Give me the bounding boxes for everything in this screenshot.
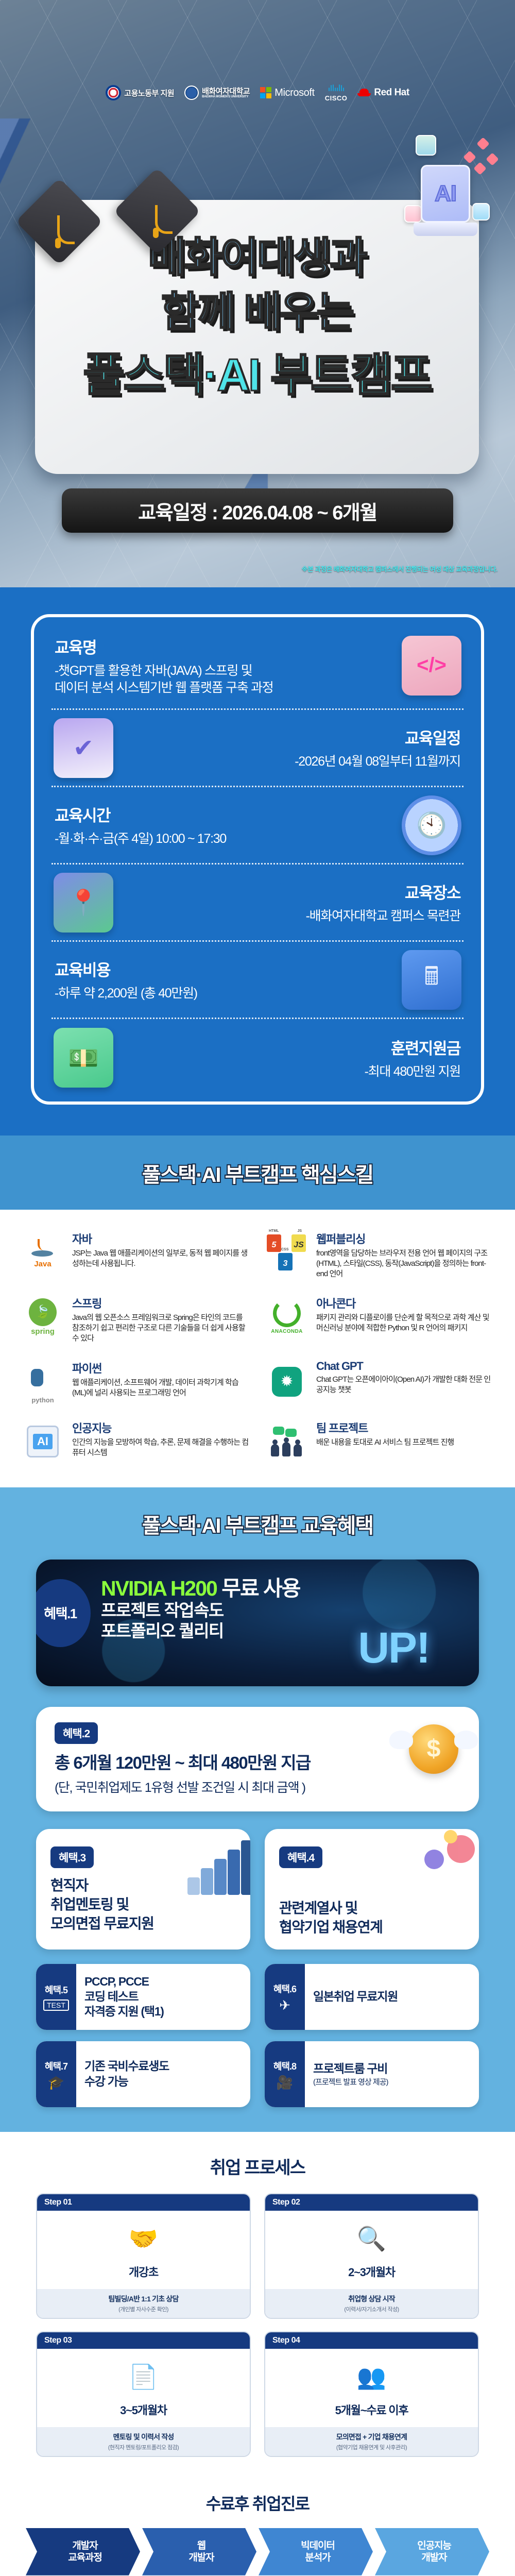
skill-card-ai: AI 인공지능 인간의 지능을 모방하여 학습, 추론, 문제 해결을 수행하는… bbox=[21, 1419, 250, 1464]
team-icon bbox=[265, 1419, 309, 1464]
benefit-badge: 혜택.5 bbox=[45, 1983, 67, 1996]
career-heading: 수료후 취업진로 bbox=[0, 2491, 515, 2515]
process-detail: 멘토링 및 이력서 작성 bbox=[42, 2432, 245, 2442]
process-subdetail: (현직자 멘토링/포트폴리오 점검) bbox=[42, 2443, 245, 2451]
process-step-label: Step 01 bbox=[37, 2194, 250, 2211]
graduation-cap-icon bbox=[28, 191, 90, 252]
calendar-check-icon: ✔ bbox=[54, 718, 113, 778]
graduation-cap-icon bbox=[126, 180, 188, 242]
benefit-card-3: 혜택.3 현직자 취업멘토링 및 모의면접 무료지원 bbox=[36, 1829, 250, 1950]
benefit-badge: 혜택.1 bbox=[36, 1579, 91, 1647]
ai-chip-icon: AI bbox=[21, 1419, 65, 1464]
ai-screen-icon: AI bbox=[421, 165, 470, 223]
partner-logo-bar: 고용노동부 지원 배화여자대학교 BAEWHA WOMEN'S UNIVERSI… bbox=[0, 77, 515, 108]
benefits-section: 풀스택·AI 부트캠프 교육혜택 혜택.1 NVIDIA H200 무료 사용 … bbox=[0, 1487, 515, 2132]
career-path-item: 빅데이터 분석가 bbox=[259, 2528, 373, 2575]
clock-icon: 🕙 bbox=[402, 795, 461, 855]
skill-desc: 인간의 지능을 모방하여 학습, 추론, 문제 해결을 수행하는 컴퓨터 시스템 bbox=[72, 1437, 250, 1458]
hero-disclaimer: ※본 과정은 배화여자대학교 캠퍼스에서 진행되는 여성 대상 교육과정입니다. bbox=[302, 564, 497, 573]
chatgpt-logo-icon: ✹ bbox=[265, 1360, 309, 1404]
hero-title-line3: 풀스택·AI 부트캠프 bbox=[35, 352, 479, 398]
benefit-badge: 혜택.7 bbox=[45, 2059, 67, 2073]
benefit-card-4: 혜택.4 관련계열사 및 협약기업 채용연계 bbox=[265, 1829, 479, 1950]
skill-card-webpublishing: HTMLJSCSS 5JS3 웹퍼블리싱 front영역을 담당하는 브라우저 … bbox=[265, 1230, 494, 1279]
microsoft-logo-icon bbox=[260, 87, 271, 98]
benefit-card-2: 혜택.2 총 6개월 120만원 ~ 최대 480만원 지급 (단, 국민취업제… bbox=[36, 1707, 479, 1811]
skill-title: 아나콘다 bbox=[316, 1295, 494, 1311]
benefit-card-1: 혜택.1 NVIDIA H200 무료 사용 프로젝트 작업속도 포트폴리오 퀄… bbox=[36, 1560, 479, 1686]
benefit-text: 프로젝트룸 구비 bbox=[313, 2061, 388, 2076]
skill-title: Chat GPT bbox=[316, 1360, 494, 1373]
skills-grid: Java 자바 JSP는 Java 웹 애플리케이션의 일부로, 동적 웹 페이… bbox=[21, 1230, 494, 1464]
info-label: 교육일정 bbox=[405, 725, 460, 749]
skill-desc: front영역을 담당하는 브라우저 전용 언어 웹 페이지의 구조(HTML)… bbox=[316, 1248, 494, 1279]
redhat-logo-icon bbox=[357, 89, 371, 97]
skills-heading-band: 풀스택·AI 부트캠프 핵심스킬 bbox=[0, 1136, 515, 1210]
hero-date-text: 교육일정 : 2026.04.08 ~ 6개월 bbox=[138, 497, 377, 525]
benefit-line2: 프로젝트 작업속도 bbox=[101, 1600, 463, 1621]
career-path-item: 개발자 교육과정 bbox=[26, 2528, 140, 2575]
benefit-badge: 혜택.8 bbox=[273, 2059, 296, 2073]
benefits-heading: 풀스택·AI 부트캠프 교육혜택 bbox=[0, 1509, 515, 1539]
info-row-course-name: 교육명 -챗GPT를 활용한 자바(JAVA) 스프링 및 데이터 분석 시스템… bbox=[51, 622, 463, 710]
partner-label-en: BAEWHA WOMEN'S UNIVERSITY bbox=[202, 95, 250, 98]
process-card-2: Step 02 🔍 2~3개월차 취업형 상담 시작 (이력서/자기소개서 작성… bbox=[264, 2193, 479, 2319]
benefit-highlight: NVIDIA H200 bbox=[101, 1577, 217, 1600]
partnership-icon bbox=[389, 1829, 479, 1904]
benefit-text: 관련계열사 및 협약기업 채용연계 bbox=[279, 1899, 467, 1937]
handshake-people-icon: 🤝 bbox=[120, 2219, 167, 2259]
process-subdetail: (개인별 자사수준 확인) bbox=[42, 2305, 245, 2313]
anaconda-logo-icon: ANACONDA bbox=[265, 1295, 309, 1339]
korea-government-icon bbox=[106, 85, 121, 100]
skill-card-chatgpt: ✹ Chat GPT Chat GPT는 오픈에이아이(Open AI)가 개발… bbox=[265, 1360, 494, 1404]
info-row-cost: 교육비용 -하루 약 2,200원 (총 40만원) 🖩 bbox=[51, 942, 463, 1019]
spring-logo-icon: 🍃spring bbox=[21, 1295, 65, 1339]
skill-card-anaconda: ANACONDA 아나콘다 패키지 관리와 디플로이를 단순케 할 목적으로 과… bbox=[265, 1295, 494, 1344]
career-section: 수료후 취업진로 개발자 교육과정 웹 개발자 빅데이터 분석가 인공지능 개발… bbox=[0, 2483, 515, 2576]
cisco-logo-icon bbox=[329, 84, 344, 91]
benefit-line1-rest: 무료 사용 bbox=[217, 1577, 300, 1600]
info-label: 교육비용 bbox=[55, 957, 110, 980]
hero-section: 고용노동부 지원 배화여자대학교 BAEWHA WOMEN'S UNIVERSI… bbox=[0, 0, 515, 587]
partner-label: 배화여자대학교 bbox=[202, 88, 250, 95]
network-nodes-icon bbox=[465, 139, 501, 175]
info-value: -챗GPT를 활용한 자바(JAVA) 스프링 및 데이터 분석 시스템기반 웹… bbox=[55, 663, 273, 696]
partner-logo-redhat: Red Hat bbox=[357, 87, 409, 98]
map-pin-icon: 📍 bbox=[54, 873, 113, 933]
calculator-icon: 🖩 bbox=[402, 950, 461, 1010]
process-detail: 취업형 상담 시작 bbox=[270, 2294, 473, 2304]
partner-label: Red Hat bbox=[374, 87, 409, 98]
benefit-text: PCCP, PCCE 코딩 테스트 자격증 지원 (택1) bbox=[84, 1974, 164, 2020]
test-clipboard-icon: TEST bbox=[43, 1999, 69, 2011]
benefit-badge: 혜택.3 bbox=[50, 1846, 94, 1868]
skill-card-team-project: 팀 프로젝트 배운 내용을 토대로 AI 서비스 팀 프로젝트 진행 bbox=[265, 1419, 494, 1464]
skill-title: 인공지능 bbox=[72, 1419, 250, 1436]
process-detail: 모의면접 + 기업 채용연계 bbox=[270, 2432, 473, 2442]
info-value: -최대 480만원 지원 bbox=[365, 1063, 460, 1080]
skill-desc: Java의 웹 오픈소스 프레임워크로 Spring은 타인의 코드를 참조하기… bbox=[72, 1313, 250, 1344]
process-title: 개강초 bbox=[42, 2263, 245, 2280]
skill-desc: 웹 애플리케이션, 소프트웨어 개발, 데이터 과학기계 학습(ML)에 널리 … bbox=[72, 1378, 250, 1398]
partner-logo-microsoft: Microsoft bbox=[260, 87, 315, 99]
info-row-subsidy: 💵 훈련지원금 -최대 480만원 지원 bbox=[51, 1019, 463, 1096]
info-row-location: 📍 교육장소 -배화여자대학교 캠퍼스 목련관 bbox=[51, 865, 463, 942]
video-camera-icon: 🎥 bbox=[277, 2076, 293, 2089]
skill-desc: 배운 내용을 토대로 AI 서비스 팀 프로젝트 진행 bbox=[316, 1437, 494, 1448]
process-heading: 취업 프로세스 bbox=[0, 2154, 515, 2179]
certificate-icon: 🎓 bbox=[48, 2076, 64, 2089]
process-card-1: Step 01 🤝 개강초 팀빌딩/A반 1:1 기초 상담 (개인별 자사수준… bbox=[36, 2193, 251, 2319]
info-label: 교육장소 bbox=[405, 880, 460, 903]
course-info-section: 교육명 -챗GPT를 활용한 자바(JAVA) 스프링 및 데이터 분석 시스템… bbox=[0, 587, 515, 1136]
python-logo-icon: python bbox=[21, 1360, 65, 1404]
skill-title: 파이썬 bbox=[72, 1360, 250, 1376]
info-value: -배화여자대학교 캠퍼스 목련관 bbox=[306, 908, 460, 925]
info-row-schedule: ✔ 교육일정 -2026년 04월 08일부터 11월까지 bbox=[51, 710, 463, 787]
process-title: 3~5개월차 bbox=[42, 2401, 245, 2418]
winged-coin-icon: $ bbox=[409, 1724, 458, 1774]
skill-desc: JSP는 Java 웹 애플리케이션의 일부로, 동적 웹 페이지를 생성하는데… bbox=[72, 1248, 250, 1269]
group-people-icon: 👥 bbox=[348, 2357, 396, 2397]
process-subdetail: (이력서/자기소개서 작성) bbox=[270, 2305, 473, 2313]
skills-section: Java 자바 JSP는 Java 웹 애플리케이션의 일부로, 동적 웹 페이… bbox=[0, 1210, 515, 1487]
baewha-seal-icon bbox=[184, 86, 199, 100]
money-icon: 💵 bbox=[54, 1028, 113, 1088]
benefit-card-8: 혜택.8 🎥 프로젝트룸 구비 (프로젝트 발표 영상 제공) bbox=[265, 2041, 479, 2107]
java-logo-icon: Java bbox=[21, 1230, 65, 1275]
benefit-tab: 혜택.7 🎓 bbox=[36, 2041, 76, 2107]
benefit-text: 일본취업 무료지원 bbox=[313, 1989, 398, 2004]
skill-title: 웹퍼블리싱 bbox=[316, 1230, 494, 1247]
process-card-3: Step 03 📄 3~5개월차 멘토링 및 이력서 작성 (현직자 멘토링/포… bbox=[36, 2331, 251, 2457]
process-subdetail: (협약기업 채용연계 및 사후관리) bbox=[270, 2443, 473, 2451]
skill-card-python: python 파이썬 웹 애플리케이션, 소프트웨어 개발, 데이터 과학기계 … bbox=[21, 1360, 250, 1404]
skills-heading: 풀스택·AI 부트캠프 핵심스킬 bbox=[142, 1164, 373, 1187]
process-title: 2~3개월차 bbox=[270, 2263, 473, 2280]
career-path-item: 인공지능 개발자 bbox=[375, 2528, 489, 2575]
profile-card-icon bbox=[416, 135, 436, 156]
video-card-icon bbox=[472, 203, 490, 221]
laptop-base-icon bbox=[414, 223, 477, 236]
process-step-label: Step 02 bbox=[265, 2194, 478, 2211]
robot-computer-icon: </> bbox=[402, 636, 461, 696]
benefit-badge: 혜택.6 bbox=[273, 1982, 296, 1995]
skill-title: 스프링 bbox=[72, 1295, 250, 1311]
benefit-up-label: UP! bbox=[358, 1623, 430, 1673]
process-title: 5개월~수료 이후 bbox=[270, 2401, 473, 2418]
skill-desc: Chat GPT는 오픈에이아이(Open AI)가 개발한 대화 전문 인공지… bbox=[316, 1375, 494, 1395]
career-path-row: 개발자 교육과정 웹 개발자 빅데이터 분석가 인공지능 개발자 bbox=[26, 2528, 489, 2575]
benefit-subtitle: (단, 국민취업제도 1유형 선발 조건일 시 최대 금액 ) bbox=[55, 1777, 376, 1796]
benefit-tab: 혜택.5 TEST bbox=[36, 1964, 76, 2030]
airplane-icon: ✈ bbox=[279, 1998, 290, 2012]
partner-logo-cisco: CISCO bbox=[325, 84, 348, 101]
partner-label: 고용노동부 지원 bbox=[124, 88, 174, 98]
info-row-hours: 교육시간 -월·화·수·금(주 4일) 10:00 ~ 17:30 🕙 bbox=[51, 787, 463, 865]
info-label: 훈련지원금 bbox=[391, 1036, 460, 1059]
skill-desc: 패키지 관리와 디플로이를 단순케 할 목적으로 과학 계산 및 머신러닝 분야… bbox=[316, 1313, 494, 1333]
skill-card-java: Java 자바 JSP는 Java 웹 애플리케이션의 일부로, 동적 웹 페이… bbox=[21, 1230, 250, 1279]
process-step-label: Step 04 bbox=[265, 2332, 478, 2349]
process-detail: 팀빌딩/A반 1:1 기초 상담 bbox=[42, 2294, 245, 2304]
skill-title: 팀 프로젝트 bbox=[316, 1419, 494, 1436]
partner-logo-mole: 고용노동부 지원 bbox=[106, 85, 174, 100]
benefit-pair-34: 혜택.3 현직자 취업멘토링 및 모의면접 무료지원 혜택.4 관련계열사 및 … bbox=[36, 1829, 479, 1950]
benefit-tab: 혜택.8 🎥 bbox=[265, 2041, 305, 2107]
partner-label: CISCO bbox=[325, 95, 348, 101]
benefit-card-5: 혜택.5 TEST PCCP, PCCE 코딩 테스트 자격증 지원 (택1) bbox=[36, 1964, 250, 2030]
info-value: -하루 약 2,200원 (총 40만원) bbox=[55, 985, 197, 1002]
career-path-item: 웹 개발자 bbox=[142, 2528, 256, 2575]
html-css-js-logo-icon: HTMLJSCSS 5JS3 bbox=[265, 1230, 309, 1275]
course-info-card: 교육명 -챗GPT를 활용한 자바(JAVA) 스프링 및 데이터 분석 시스템… bbox=[31, 614, 484, 1105]
info-value: -월·화·수·금(주 4일) 10:00 ~ 17:30 bbox=[55, 831, 226, 848]
benefit-text: 기존 국비수료생도 수강 가능 bbox=[84, 2059, 169, 2089]
ai-laptop-illustration: AI bbox=[404, 165, 487, 242]
partner-label: Microsoft bbox=[274, 87, 315, 99]
promo-page: 고용노동부 지원 배화여자대학교 BAEWHA WOMEN'S UNIVERSI… bbox=[0, 0, 515, 2576]
benefit-text: 현직자 취업멘토링 및 모의면접 무료지원 bbox=[50, 1876, 238, 1934]
benefit-title: 총 6개월 120만원 ~ 최대 480만원 지급 bbox=[55, 1752, 376, 1773]
benefit-badge: 혜택.4 bbox=[279, 1846, 322, 1868]
image-card-icon bbox=[404, 205, 422, 223]
benefit-card-7: 혜택.7 🎓 기존 국비수료생도 수강 가능 bbox=[36, 2041, 250, 2107]
benefit-badge: 혜택.2 bbox=[55, 1722, 98, 1744]
process-grid: Step 01 🤝 개강초 팀빌딩/A반 1:1 기초 상담 (개인별 자사수준… bbox=[36, 2193, 479, 2457]
skill-card-spring: 🍃spring 스프링 Java의 웹 오픈소스 프레임워크로 Spring은 … bbox=[21, 1295, 250, 1344]
magnify-person-icon: 🔍 bbox=[348, 2219, 396, 2259]
benefit-small-grid: 혜택.5 TEST PCCP, PCCE 코딩 테스트 자격증 지원 (택1) … bbox=[36, 1964, 479, 2107]
hero-title-line1: 배화여대생과 bbox=[35, 237, 479, 278]
hero-date-banner: 교육일정 : 2026.04.08 ~ 6개월 bbox=[62, 488, 453, 533]
skill-title: 자바 bbox=[72, 1230, 250, 1247]
benefit-tab: 혜택.6 ✈ bbox=[265, 1964, 305, 2030]
benefit-card-6: 혜택.6 ✈ 일본취업 무료지원 bbox=[265, 1964, 479, 2030]
benefit-subtext: (프로젝트 발표 영상 제공) bbox=[313, 2076, 388, 2087]
process-card-4: Step 04 👥 5개월~수료 이후 모의면접 + 기업 채용연계 (협약기업… bbox=[264, 2331, 479, 2457]
partner-logo-baewha: 배화여자대학교 BAEWHA WOMEN'S UNIVERSITY bbox=[184, 86, 250, 100]
document-icon: 📄 bbox=[120, 2357, 167, 2397]
process-step-label: Step 03 bbox=[37, 2332, 250, 2349]
process-section: 취업 프로세스 Step 01 🤝 개강초 팀빌딩/A반 1:1 기초 상담 (… bbox=[0, 2132, 515, 2483]
info-label: 교육명 bbox=[55, 635, 96, 658]
info-value: -2026년 04월 08일부터 11월까지 bbox=[295, 753, 460, 770]
hero-title-line2: 함께 배우는 bbox=[35, 292, 479, 333]
info-label: 교육시간 bbox=[55, 803, 110, 826]
